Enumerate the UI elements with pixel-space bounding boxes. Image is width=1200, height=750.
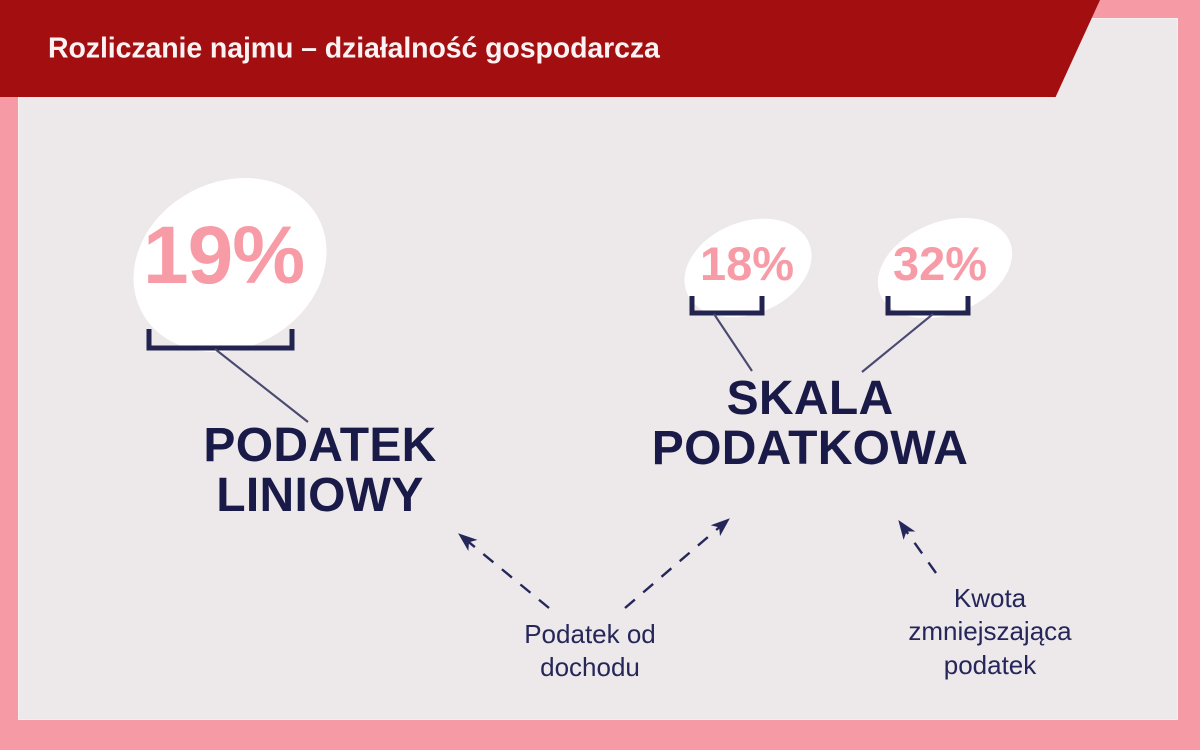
headline-skala-podatkowa-line1: SKALA [610, 374, 1010, 424]
title-banner: Rozliczanie najmu – działalność gospodar… [0, 0, 1100, 97]
headline-podatek-liniowy-line1: PODATEK [120, 421, 520, 471]
annotation-podatek-od-dochodu-line1: Podatek od [450, 618, 730, 651]
rate-value-19: 19% [143, 215, 304, 297]
annotation-kwota-line2: zmniejszająca [850, 615, 1130, 648]
annotation-kwota-zmniejszajaca-podatek: Kwota zmniejszająca podatek [850, 582, 1130, 682]
annotation-kwota-line3: podatek [850, 649, 1130, 682]
rate-value-18: 18% [700, 240, 794, 287]
slide-canvas: Rozliczanie najmu – działalność gospodar… [0, 0, 1200, 750]
page-title: Rozliczanie najmu – działalność gospodar… [48, 32, 660, 65]
rate-value-32: 32% [893, 240, 987, 287]
annotation-podatek-od-dochodu: Podatek od dochodu [450, 618, 730, 685]
annotation-podatek-od-dochodu-line2: dochodu [450, 651, 730, 684]
headline-skala-podatkowa-line2: PODATKOWA [610, 424, 1010, 474]
annotation-kwota-line1: Kwota [850, 582, 1130, 615]
headline-podatek-liniowy-line2: LINIOWY [120, 471, 520, 521]
headline-podatek-liniowy: PODATEK LINIOWY [120, 421, 520, 522]
headline-skala-podatkowa: SKALA PODATKOWA [610, 374, 1010, 475]
